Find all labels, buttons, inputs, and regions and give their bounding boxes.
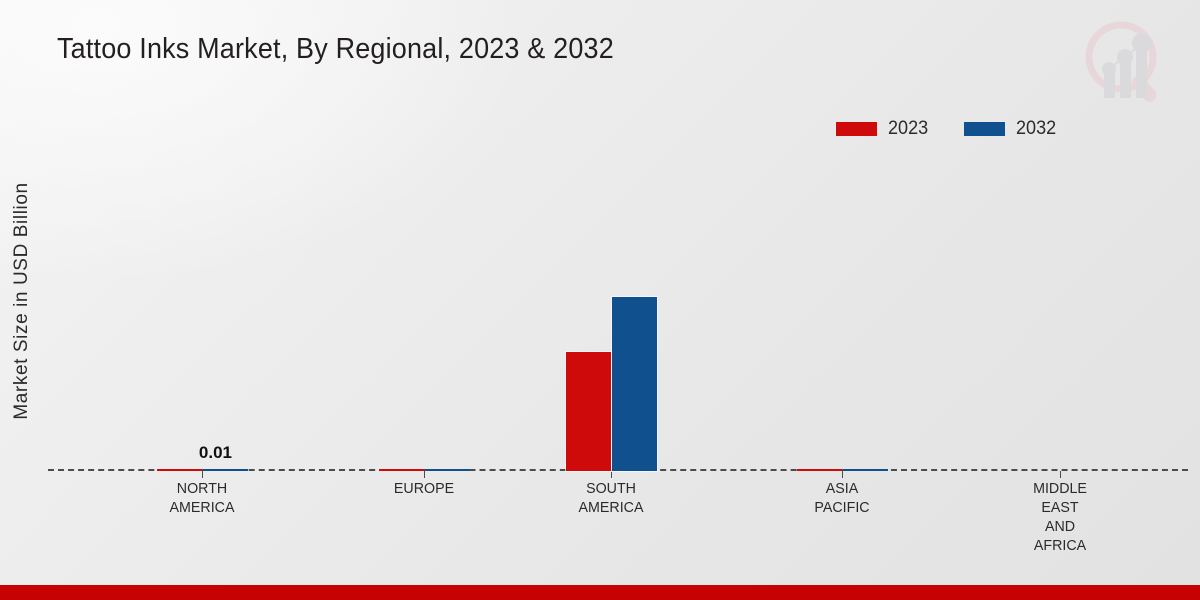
x-axis-tick (1060, 471, 1061, 478)
legend-swatch-2023 (836, 122, 877, 136)
plot-area (48, 140, 1188, 471)
legend-item-2032[interactable]: 2032 (964, 118, 1058, 140)
x-axis-tick (424, 471, 425, 478)
bar-2023-south-america[interactable] (566, 352, 611, 471)
x-tick-label-south-america: SOUTHAMERICA (535, 479, 687, 517)
legend-label-2023: 2023 (888, 118, 928, 140)
x-tick-label-north-america: NORTHAMERICA (126, 479, 278, 517)
footer-bar (0, 585, 1200, 600)
bar-2023-europe[interactable] (379, 469, 424, 471)
bar-group (796, 140, 888, 471)
bar-group (1014, 140, 1106, 471)
bar-group (378, 140, 470, 471)
x-axis-tick (202, 471, 203, 478)
chart-canvas: Tattoo Inks Market, By Regional, 2023 & … (0, 0, 1200, 600)
bar-group (565, 140, 657, 471)
market-research-logo-icon (1074, 12, 1178, 110)
bar-2023-north-america[interactable] (157, 469, 202, 471)
bar-2032-south-america[interactable] (612, 297, 657, 471)
y-axis-label: Market Size in USD Billion (11, 131, 33, 471)
x-axis-tick (842, 471, 843, 478)
x-tick-label-middle-east-and-africa: MIDDLEEASTANDAFRICA (984, 479, 1136, 555)
bar-2032-asia-pacific[interactable] (843, 469, 888, 471)
bar-2032-europe[interactable] (425, 469, 470, 471)
legend-label-2032: 2032 (1016, 118, 1056, 140)
value-label: 0.01 (112, 443, 232, 463)
chart-legend: 2023 2032 (836, 118, 1059, 140)
legend-swatch-2032 (964, 122, 1005, 136)
bar-group (156, 140, 248, 471)
chart-title: Tattoo Inks Market, By Regional, 2023 & … (57, 33, 614, 66)
x-tick-label-asia-pacific: ASIAPACIFIC (766, 479, 918, 517)
bar-2023-asia-pacific[interactable] (797, 469, 842, 471)
bar-2032-north-america[interactable] (203, 469, 248, 471)
x-axis-tick (611, 471, 612, 478)
x-tick-label-europe: EUROPE (348, 479, 500, 498)
legend-item-2023[interactable]: 2023 (836, 118, 930, 140)
